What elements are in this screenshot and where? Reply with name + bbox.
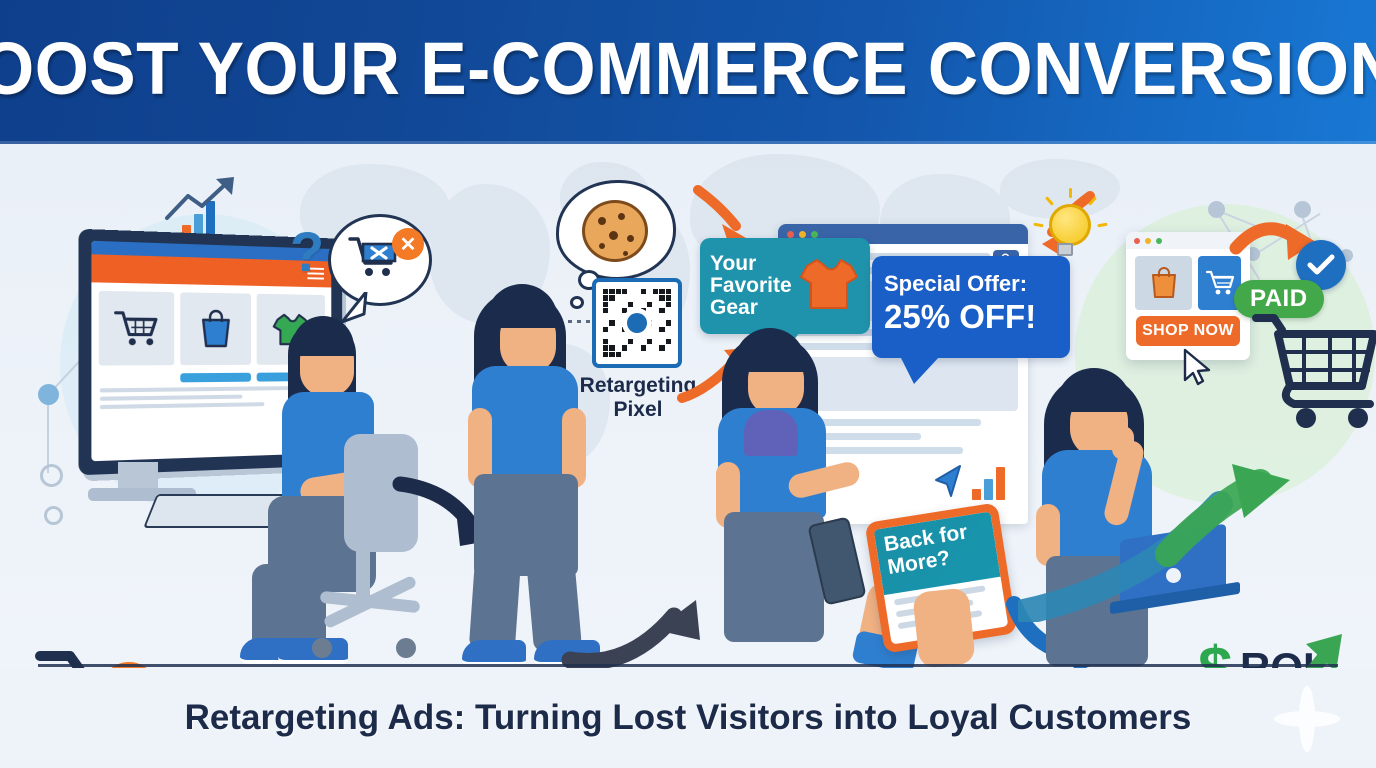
ad-special-offer[interactable]: Special Offer: 25% OFF! xyxy=(872,256,1070,358)
ad-favorite-gear[interactable]: Your Favorite Gear xyxy=(700,238,870,334)
cart-x-badge: ✕ xyxy=(392,228,424,260)
page-title: BOOST YOUR E-COMMERCE CONVERSIONS xyxy=(0,32,1376,112)
product-bag-icon xyxy=(1135,256,1192,310)
lightbulb-icon xyxy=(1044,204,1100,260)
qr-code-icon xyxy=(592,278,682,368)
product-card-cart xyxy=(99,291,174,366)
header-banner: BOOST YOUR E-COMMERCE CONVERSIONS xyxy=(0,0,1376,144)
ad-favorite-gear-text: Your Favorite Gear xyxy=(710,253,792,320)
converted-cart-icon xyxy=(1252,310,1376,435)
sparkle-decoration xyxy=(1274,686,1340,752)
qr-center-dot xyxy=(627,313,647,333)
ad-special-offer-line2: 25% OFF! xyxy=(884,300,1058,335)
caption-area: Retargeting Ads: Turning Lost Visitors i… xyxy=(0,668,1376,768)
ground-line xyxy=(38,664,1338,667)
ad-special-offer-line1: Special Offer: xyxy=(884,272,1058,295)
caption-text: Retargeting Ads: Turning Lost Visitors i… xyxy=(185,698,1192,738)
tshirt-icon xyxy=(798,256,860,317)
product-card-bag xyxy=(180,292,251,365)
infographic-root: BOOST YOUR E-COMMERCE CONVERSIONS xyxy=(0,0,1376,768)
growth-arrow-icon xyxy=(164,174,248,227)
ads-mini-chart xyxy=(972,464,1005,500)
question-mark-icon: ? xyxy=(290,219,324,284)
cursor-arrow-icon xyxy=(930,462,966,504)
growth-swoosh xyxy=(1018,462,1348,627)
flow-arrow-2 xyxy=(568,564,738,674)
cookie-icon xyxy=(582,200,648,262)
shop-now-cursor-icon xyxy=(1182,348,1214,388)
shop-now-button[interactable]: SHOP NOW xyxy=(1136,316,1240,346)
